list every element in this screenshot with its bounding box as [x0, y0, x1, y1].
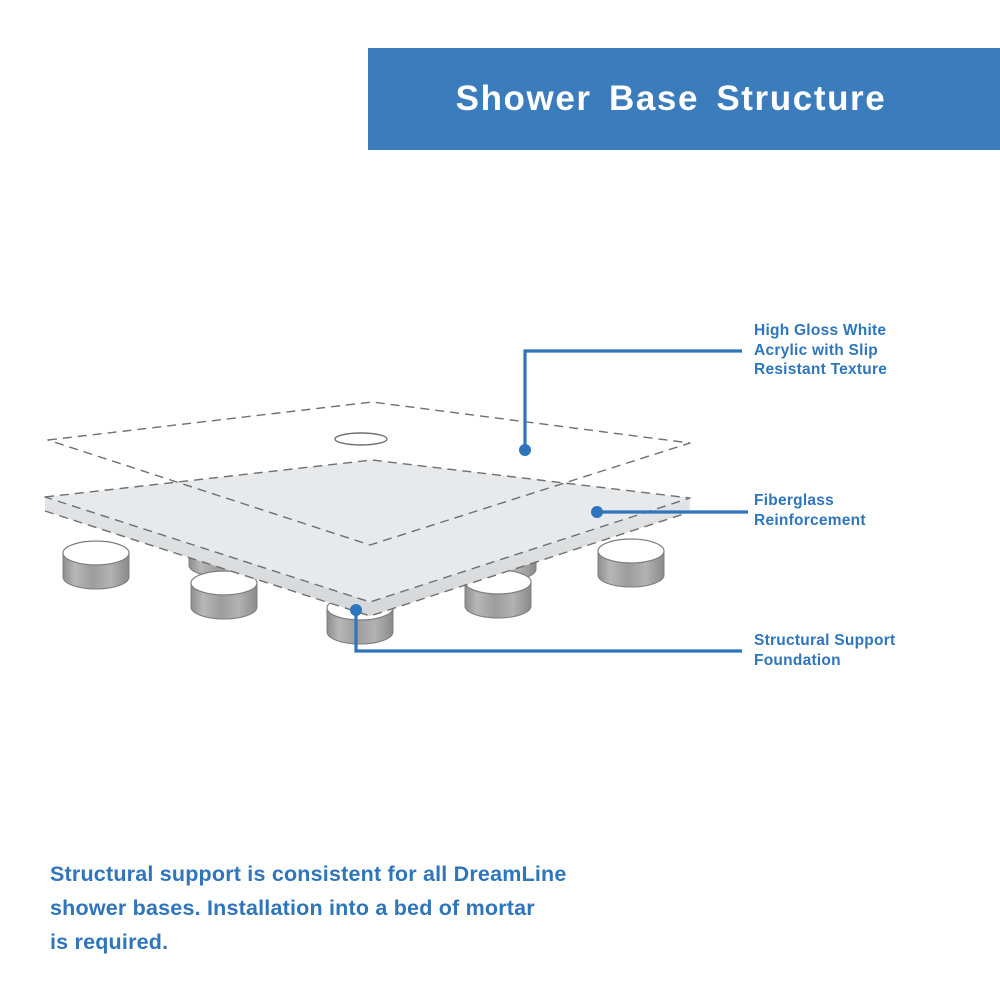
support-ring — [191, 571, 257, 619]
annotation-label-fiberglass: Fiberglass Reinforcement — [754, 491, 866, 530]
leader-line-foundation — [350, 604, 742, 651]
footer-caption: Structural support is consistent for all… — [50, 857, 690, 959]
fiberglass-slab-layer — [45, 460, 690, 616]
drain-ellipse — [335, 433, 387, 445]
annotation-label-foundation: Structural Support Foundation — [754, 631, 895, 670]
support-ring — [63, 541, 129, 589]
page-title: Shower Base Structure — [456, 79, 887, 119]
header-banner: Shower Base Structure — [368, 48, 1000, 150]
annotation-label-acrylic: High Gloss White Acrylic with Slip Resis… — [754, 321, 887, 380]
infographic-page: Shower Base Structure — [0, 0, 1000, 1000]
leader-line-acrylic — [519, 351, 742, 456]
support-ring — [598, 539, 664, 587]
